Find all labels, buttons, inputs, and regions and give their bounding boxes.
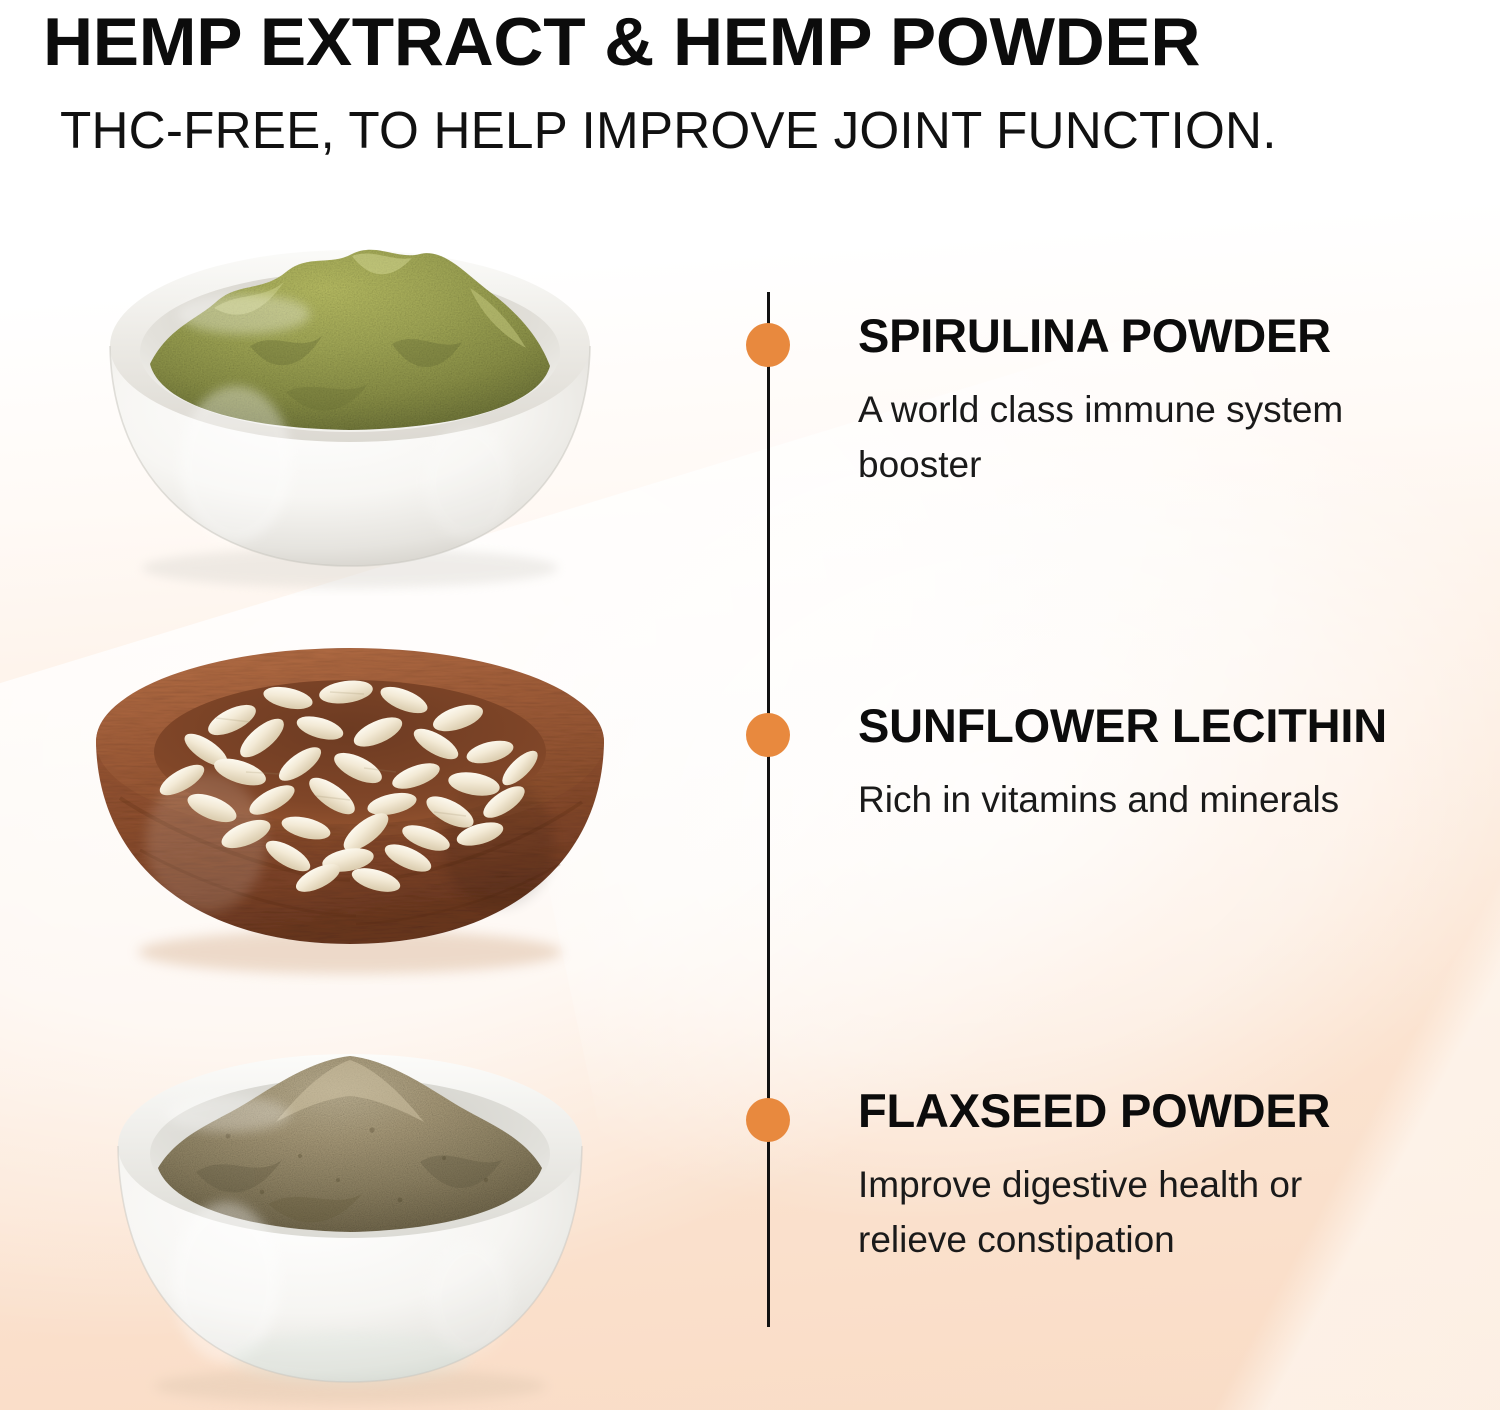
feature-flaxseed: FLAXSEED POWDER Improve digestive health… xyxy=(858,1085,1478,1267)
spirulina-bowl-illustration xyxy=(0,196,700,596)
product-infographic: HEMP EXTRACT & HEMP POWDER THC-FREE, TO … xyxy=(0,0,1500,1410)
timeline-bullet-spirulina xyxy=(746,323,790,367)
timeline-bullet-flaxseed xyxy=(746,1098,790,1142)
ingredient-photo-spirulina: white ceramic bowl of green spirulina po… xyxy=(0,196,700,596)
feature-title-sunflower: SUNFLOWER LECITHIN xyxy=(858,700,1478,752)
ingredient-photo-flaxseed: white ceramic bowl of brown flaxseed pow… xyxy=(0,1010,700,1410)
feature-title-flaxseed: FLAXSEED POWDER xyxy=(858,1085,1478,1137)
timeline-connector-line xyxy=(767,292,770,1327)
sunflower-bowl-illustration xyxy=(0,592,700,992)
feature-description-spirulina: A world class immune system booster xyxy=(858,382,1418,492)
feature-description-flaxseed: Improve digestive health or relieve cons… xyxy=(858,1157,1418,1267)
feature-sunflower: SUNFLOWER LECITHIN Rich in vitamins and … xyxy=(858,700,1478,827)
page-subtitle: THC-FREE, TO HELP IMPROVE JOINT FUNCTION… xyxy=(60,100,1459,162)
flaxseed-bowl-illustration xyxy=(0,1010,700,1410)
timeline-bullet-sunflower xyxy=(746,713,790,757)
feature-description-sunflower: Rich in vitamins and minerals xyxy=(858,772,1418,827)
page-title: HEMP EXTRACT & HEMP POWDER xyxy=(43,4,1491,80)
feature-spirulina: SPIRULINA POWDER A world class immune sy… xyxy=(858,310,1478,492)
ingredient-photo-sunflower: wooden bowl of hulled sunflower seeds xyxy=(0,592,700,992)
feature-title-spirulina: SPIRULINA POWDER xyxy=(858,310,1478,362)
